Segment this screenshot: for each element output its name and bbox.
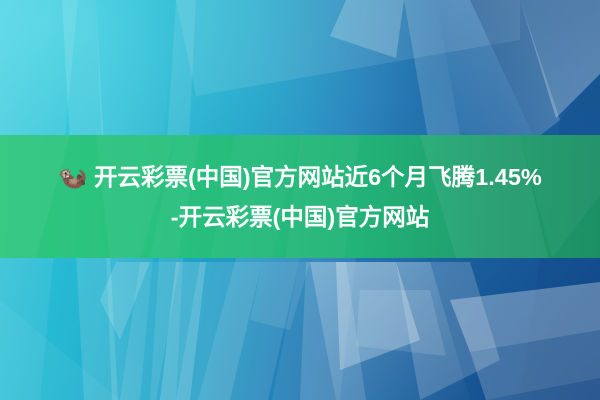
promo-banner: 🦦 开云彩票(中国)官方网站近6个月飞腾1.45% -开云彩票(中国)官方网站 — [0, 0, 600, 400]
headline-line-2: -开云彩票(中国)官方网站 — [171, 197, 429, 237]
headline-line-1: 🦦 开云彩票(中国)官方网站近6个月飞腾1.45% — [58, 157, 542, 197]
headline-block: 🦦 开云彩票(中国)官方网站近6个月飞腾1.45% -开云彩票(中国)官方网站 — [0, 135, 600, 258]
